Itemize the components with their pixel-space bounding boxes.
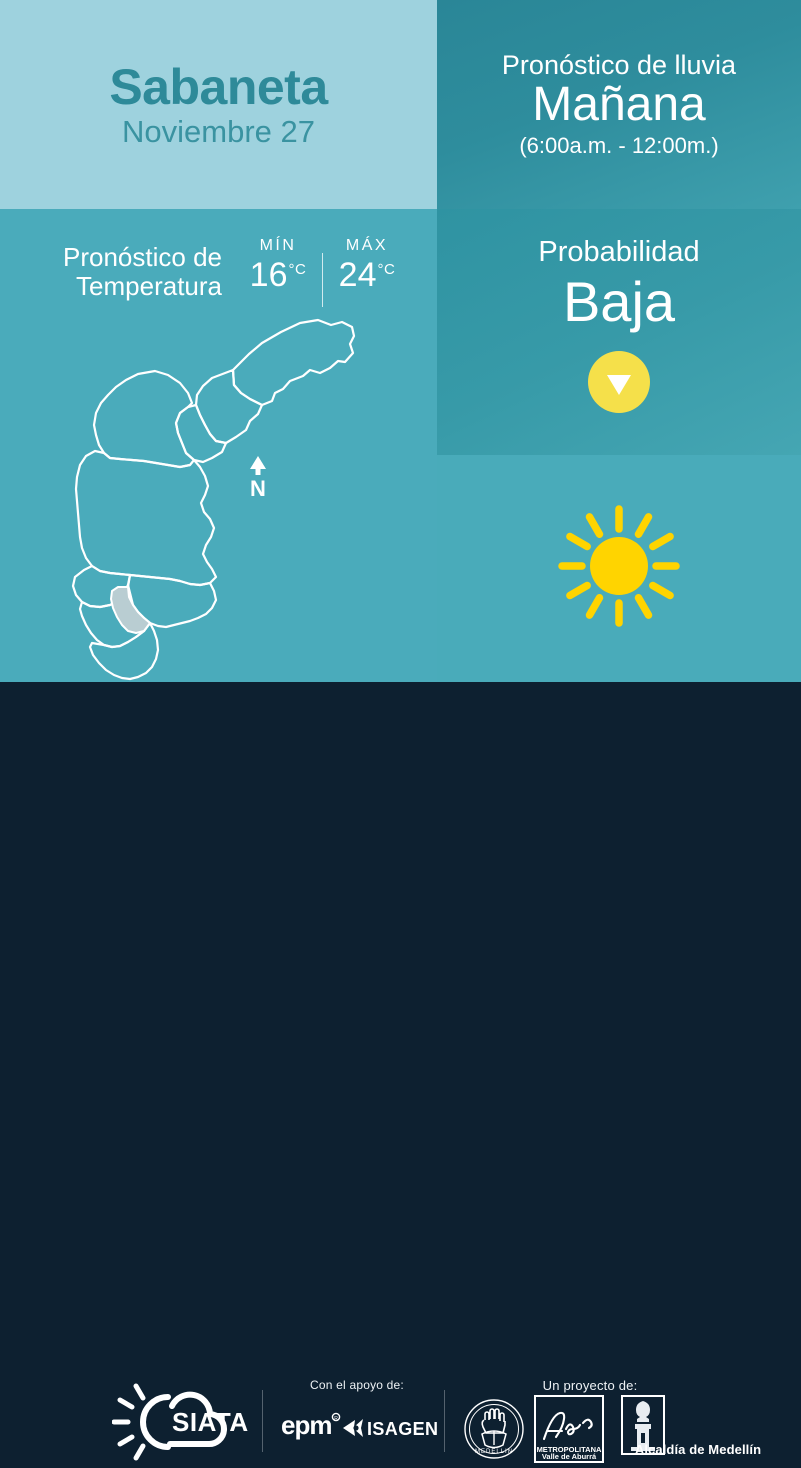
rain-forecast-heading: Pronóstico de lluvia xyxy=(502,51,736,79)
footer-bar: SIATA SIATA Con el apoyo de: epm R epm ®… xyxy=(0,682,801,801)
isagen-label: ISAGEN xyxy=(441,1415,442,1416)
temperature-min: MÍN 16°C xyxy=(234,237,322,295)
epm-registered-mark: ® xyxy=(343,1409,344,1410)
probability-panel: Probabilidad Baja xyxy=(437,209,801,455)
siata-label: SIATA xyxy=(257,1382,258,1383)
alcaldia-label: Alcaldía de Medellín xyxy=(598,1442,798,1457)
temperature-max-unit: °C xyxy=(377,261,395,278)
siata-wordmark: SIATA xyxy=(172,1407,249,1437)
epm-label: epm xyxy=(343,1409,344,1410)
temperature-min-caption: MÍN xyxy=(234,237,322,255)
probability-label: Probabilidad xyxy=(538,237,699,269)
temperature-label: Pronóstico de Temperatura xyxy=(26,243,234,301)
city-name: Sabaneta xyxy=(109,62,327,112)
weather-infographic: Sabaneta Noviembre 27 Pronóstico de lluv… xyxy=(0,0,801,801)
weather-icon-panel xyxy=(437,455,801,682)
sun-icon xyxy=(544,491,694,646)
temperature-max-value: 24 xyxy=(339,256,377,295)
udea-seal-text: MEDELLIN xyxy=(475,1449,513,1455)
svg-text:N: N xyxy=(250,476,266,501)
temperature-min-unit: °C xyxy=(288,261,306,278)
siata-logo[interactable]: SIATA SIATA xyxy=(112,1382,257,1467)
area-line2: Valle de Aburrá xyxy=(542,1452,597,1461)
support-label: Con el apoyo de: xyxy=(287,1378,427,1392)
project-label: Un proyecto de: xyxy=(500,1378,680,1393)
probability-value: Baja xyxy=(563,271,675,334)
municipality-bello xyxy=(94,371,194,467)
svg-text:R: R xyxy=(334,1416,338,1422)
compass-north-icon: N xyxy=(250,456,266,501)
temperature-summary: Pronóstico de Temperatura MÍN 16°C MÁX 2… xyxy=(0,227,437,317)
municipality-medellin xyxy=(76,451,216,585)
epm-wordmark: epm xyxy=(281,1410,331,1440)
rain-forecast-period: Mañana xyxy=(532,80,705,131)
temperature-label-line1: Pronóstico de xyxy=(26,243,222,272)
temperature-min-value: 16 xyxy=(250,256,288,295)
temperature-max-caption: MÁX xyxy=(323,237,411,255)
probability-low-icon xyxy=(588,351,650,418)
footer-divider-1 xyxy=(262,1390,263,1452)
rain-forecast-time-range: (6:00a.m. - 12:00m.) xyxy=(519,134,718,158)
municipality-caldas xyxy=(90,623,158,679)
temperature-panel: Pronóstico de Temperatura MÍN 16°C MÁX 2… xyxy=(0,209,437,682)
isagen-wordmark: ISAGEN xyxy=(367,1419,438,1439)
isagen-logo[interactable]: ISAGEN ISAGEN xyxy=(341,1415,441,1446)
temperature-values: MÍN 16°C MÁX 24°C xyxy=(234,237,411,307)
temperature-label-line2: Temperatura xyxy=(26,272,222,301)
udea-seal-logo[interactable]: MEDELLIN MEDELLIN xyxy=(463,1398,525,1465)
city-header-panel: Sabaneta Noviembre 27 xyxy=(0,0,437,209)
forecast-date: Noviembre 27 xyxy=(122,116,315,147)
temperature-max: MÁX 24°C xyxy=(323,237,411,295)
municipality-copacabana xyxy=(176,405,226,462)
rain-forecast-panel: Pronóstico de lluvia Mañana (6:00a.m. - … xyxy=(437,0,801,209)
udea-seal-label: MEDELLIN xyxy=(525,1398,526,1399)
epm-logo[interactable]: epm R epm ® xyxy=(281,1409,343,1446)
footer-divider-2 xyxy=(444,1390,445,1452)
municipality-girardota xyxy=(196,370,262,443)
valle-de-aburra-map: N N xyxy=(0,313,437,682)
area-metropolitana-logo[interactable]: METROPOLITANA Valle de Aburrá Área xyxy=(534,1395,604,1468)
municipality-barbosa xyxy=(233,320,354,405)
area-script-label: Área xyxy=(604,1395,605,1396)
